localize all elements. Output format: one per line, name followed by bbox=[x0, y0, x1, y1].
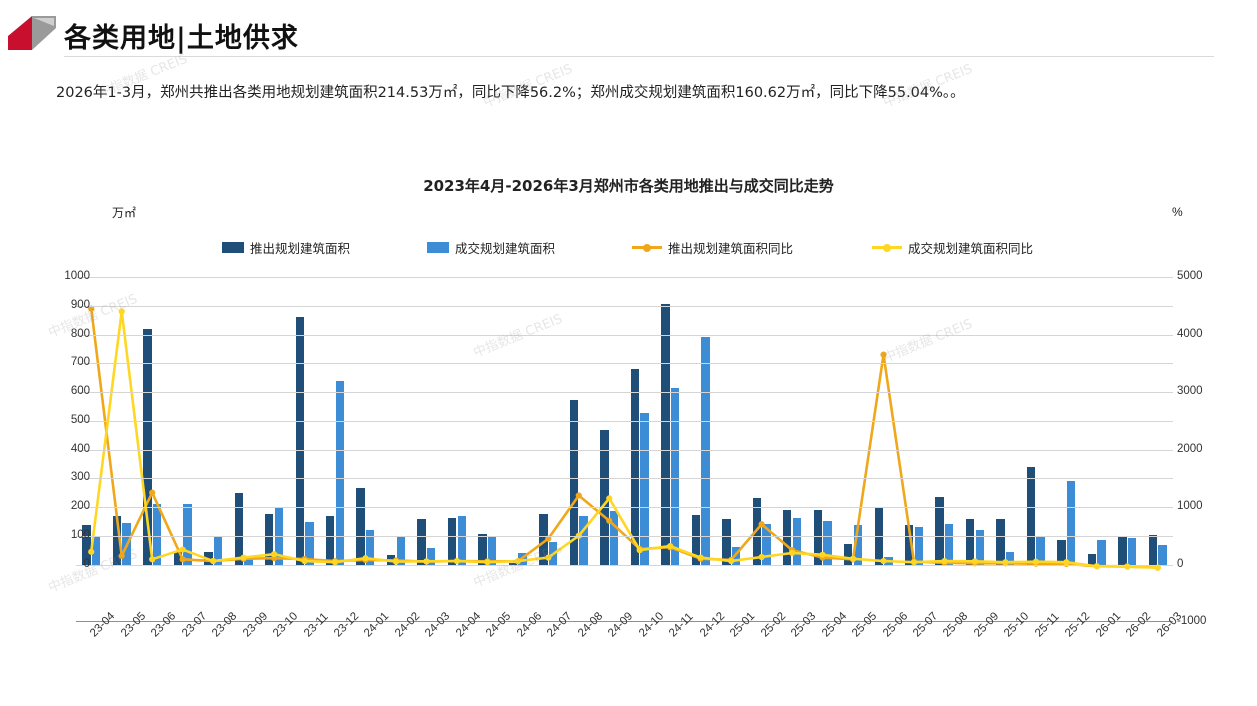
y2-axis-tick-label: 5000 bbox=[1177, 270, 1237, 282]
series-marker bbox=[576, 492, 582, 498]
series-marker bbox=[88, 549, 94, 555]
series-marker bbox=[880, 352, 886, 358]
y-axis-tick-label: 100 bbox=[30, 529, 90, 541]
chart-title: 2023年4月-2026年3月郑州市各类用地推出与成交同比走势 bbox=[0, 175, 1257, 196]
gridline bbox=[76, 306, 1173, 307]
creis-logo bbox=[8, 16, 56, 50]
gridline bbox=[76, 392, 1173, 393]
y-axis-tick-label: 300 bbox=[30, 471, 90, 483]
series-marker bbox=[119, 308, 125, 314]
legend-line-icon bbox=[632, 242, 662, 253]
gridline bbox=[76, 277, 1173, 278]
y-axis-unit-left: 万㎡ bbox=[112, 204, 136, 221]
series-marker bbox=[972, 558, 978, 564]
chart-legend: 推出规划建筑面积成交规划建筑面积推出规划建筑面积同比成交规划建筑面积同比 bbox=[222, 238, 1082, 258]
y-axis-tick-label: 500 bbox=[30, 414, 90, 426]
series-marker bbox=[667, 543, 673, 549]
x-axis-labels: 23-0423-0523-0623-0723-0823-0923-1023-11… bbox=[76, 625, 1173, 695]
gridline bbox=[76, 335, 1173, 336]
page-title: 各类用地|土地供求 bbox=[64, 16, 299, 55]
y2-axis-tick-label: 1000 bbox=[1177, 500, 1237, 512]
gridline bbox=[76, 421, 1173, 422]
legend-swatch-icon bbox=[427, 242, 449, 253]
legend-item[interactable]: 成交规划建筑面积同比 bbox=[872, 238, 1033, 257]
series-marker bbox=[698, 555, 704, 561]
series-marker bbox=[515, 558, 521, 564]
series-marker bbox=[149, 490, 155, 496]
y-axis-tick-label: 400 bbox=[30, 443, 90, 455]
series-marker bbox=[271, 551, 277, 557]
legend-item[interactable]: 成交规划建筑面积 bbox=[427, 238, 555, 257]
series-marker bbox=[423, 558, 429, 564]
y-axis-tick-label: 600 bbox=[30, 385, 90, 397]
legend-label: 推出规划建筑面积 bbox=[250, 238, 350, 257]
y-axis-tick-label: 0 bbox=[30, 558, 90, 570]
y2-axis-tick-label: 2000 bbox=[1177, 443, 1237, 455]
y2-axis-tick-label: -1000 bbox=[1177, 615, 1237, 627]
page-header: 各类用地|土地供求 bbox=[0, 0, 1257, 62]
series-marker bbox=[728, 558, 734, 564]
y-axis-tick-label: 800 bbox=[30, 328, 90, 340]
series-marker bbox=[149, 556, 155, 562]
series-marker bbox=[180, 556, 186, 562]
series-marker bbox=[545, 555, 551, 561]
summary-paragraph: 2026年1-3月，郑州共推出各类用地规划建筑面积214.53万㎡，同比下降56… bbox=[56, 80, 1196, 107]
y-axis-tick-label: 900 bbox=[30, 299, 90, 311]
title-divider bbox=[64, 56, 1214, 57]
series-marker bbox=[637, 547, 643, 553]
series-marker bbox=[241, 555, 247, 561]
gridline bbox=[76, 565, 1173, 566]
legend-line-icon bbox=[872, 242, 902, 253]
gridline bbox=[76, 450, 1173, 451]
series-marker bbox=[759, 554, 765, 560]
y-axis-tick-label: 1000 bbox=[30, 270, 90, 282]
series-marker bbox=[789, 550, 795, 556]
y2-axis-tick-label: 0 bbox=[1177, 558, 1237, 570]
series-marker bbox=[454, 558, 460, 564]
y-axis-tick-label: 700 bbox=[30, 356, 90, 368]
legend-label: 成交规划建筑面积同比 bbox=[908, 238, 1033, 257]
series-marker bbox=[301, 558, 307, 564]
gridline bbox=[76, 478, 1173, 479]
series-line bbox=[91, 309, 1158, 568]
series-marker bbox=[606, 518, 612, 524]
legend-item[interactable]: 推出规划建筑面积 bbox=[222, 238, 350, 257]
series-marker bbox=[850, 556, 856, 562]
series-marker bbox=[880, 558, 886, 564]
legend-label: 成交规划建筑面积 bbox=[455, 238, 555, 257]
legend-swatch-icon bbox=[222, 242, 244, 253]
legend-label: 推出规划建筑面积同比 bbox=[668, 238, 793, 257]
series-marker bbox=[210, 558, 216, 564]
series-marker bbox=[941, 558, 947, 564]
series-line bbox=[91, 312, 1158, 568]
gridline bbox=[76, 507, 1173, 508]
series-marker bbox=[180, 546, 186, 552]
series-marker bbox=[362, 555, 368, 561]
y-axis-unit-right: % bbox=[1172, 205, 1183, 219]
y2-axis-tick-label: 4000 bbox=[1177, 328, 1237, 340]
series-marker bbox=[119, 553, 125, 559]
gridline bbox=[76, 363, 1173, 364]
gridline bbox=[76, 536, 1173, 537]
series-marker bbox=[606, 495, 612, 501]
series-marker bbox=[759, 521, 765, 527]
y-axis-tick-label: 200 bbox=[30, 500, 90, 512]
y2-axis-tick-label: 3000 bbox=[1177, 385, 1237, 397]
chart-plot-area: 01002003004005006007008009001000-1000010… bbox=[76, 277, 1173, 622]
series-marker bbox=[819, 552, 825, 558]
legend-item[interactable]: 推出规划建筑面积同比 bbox=[632, 238, 793, 257]
